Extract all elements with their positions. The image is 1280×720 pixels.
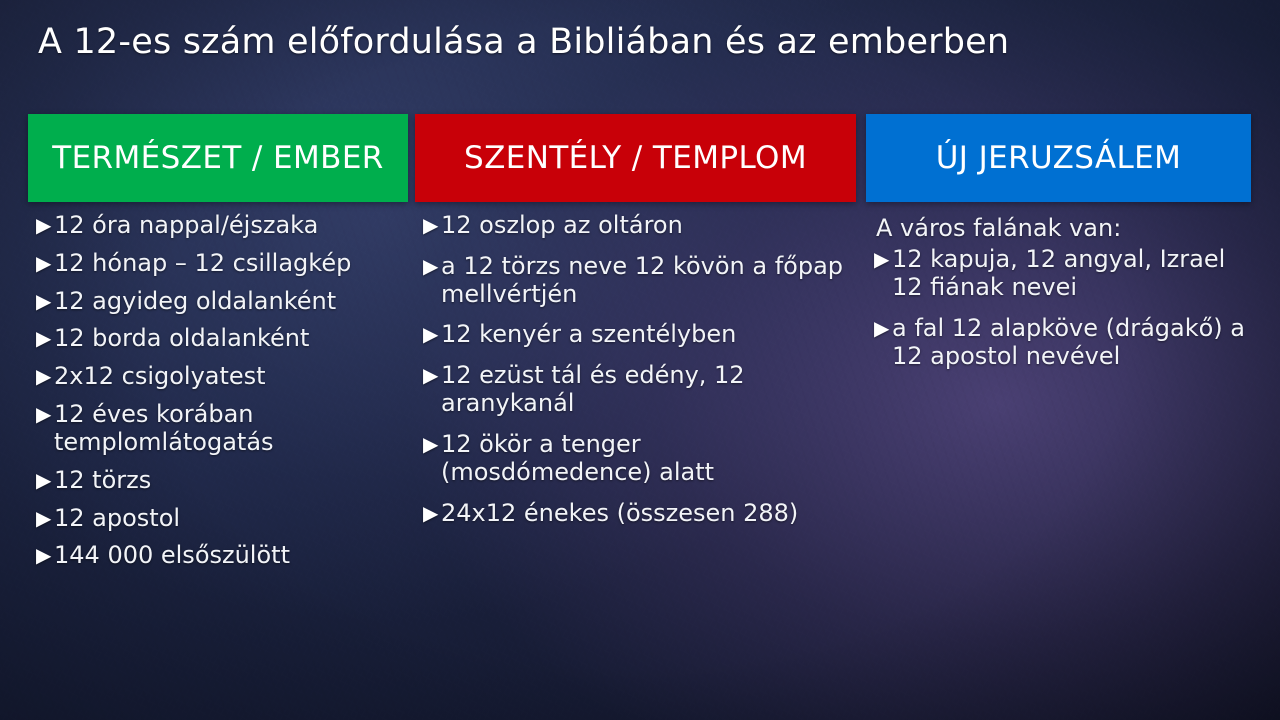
bullet-triangle-icon: ▶ [36, 542, 51, 569]
bullet-triangle-icon: ▶ [423, 431, 438, 458]
list-item: ▶12 apostol [28, 505, 408, 533]
list-item-label: a fal 12 alapköve (drágakő) a 12 apostol… [892, 314, 1245, 370]
list-item-label: 12 óra nappal/éjszaka [54, 211, 318, 239]
bullet-triangle-icon: ▶ [423, 500, 438, 527]
column-header-termeszet-ember: TERMÉSZET / EMBER [28, 114, 408, 202]
column-header-szentely-templom: SZENTÉLY / TEMPLOM [415, 114, 856, 202]
list-item-label: 24x12 énekes (összesen 288) [441, 499, 798, 527]
list-item-label: 12 kenyér a szentélyben [441, 320, 736, 348]
column-termeszet-ember: TERMÉSZET / EMBER ▶12 óra nappal/éjszaka… [28, 114, 408, 580]
column-uj-jeruzsalem: ÚJ JERUZSÁLEM A város falának van: ▶12 k… [866, 114, 1251, 384]
column-body-szentely-templom: ▶12 oszlop az oltáron ▶a 12 törzs neve 1… [415, 202, 856, 527]
list-item: ▶12 hónap – 12 csillagkép [28, 250, 408, 278]
bullet-triangle-icon: ▶ [36, 363, 51, 390]
list-item-label: 12 kapuja, 12 angyal, Izrael 12 fiának n… [892, 245, 1225, 301]
list-item-label: 12 törzs [54, 466, 151, 494]
column-body-uj-jeruzsalem: A város falának van: ▶12 kapuja, 12 angy… [866, 202, 1251, 371]
bullet-triangle-icon: ▶ [36, 212, 51, 239]
list-item-label: 12 agyideg oldalanként [54, 287, 336, 315]
bullet-triangle-icon: ▶ [36, 325, 51, 352]
list-item: ▶12 ezüst tál és edény, 12 aranykanál [415, 362, 856, 418]
list-item: ▶12 éves korában templomlátogatás [28, 401, 408, 457]
presentation-slide: A 12-es szám előfordulása a Bibliában és… [0, 0, 1280, 720]
list-item: ▶a fal 12 alapköve (drágakő) a 12 aposto… [866, 315, 1251, 371]
list-item: ▶12 óra nappal/éjszaka [28, 212, 408, 240]
column-header-uj-jeruzsalem: ÚJ JERUZSÁLEM [866, 114, 1251, 202]
bullet-triangle-icon: ▶ [874, 246, 889, 273]
list-item: ▶12 kenyér a szentélyben [415, 321, 856, 349]
page-title: A 12-es szám előfordulása a Bibliában és… [38, 22, 1218, 62]
list-item-label: a 12 törzs neve 12 kövön a főpap mellvér… [441, 252, 843, 308]
bullet-triangle-icon: ▶ [423, 253, 438, 280]
bullet-triangle-icon: ▶ [36, 288, 51, 315]
bullet-triangle-icon: ▶ [423, 362, 438, 389]
list-item-label: 12 borda oldalanként [54, 324, 309, 352]
list-item: ▶12 borda oldalanként [28, 325, 408, 353]
bullet-list-uj-jeruzsalem: ▶12 kapuja, 12 angyal, Izrael 12 fiának … [866, 246, 1251, 370]
bullet-triangle-icon: ▶ [36, 401, 51, 428]
list-item: ▶12 kapuja, 12 angyal, Izrael 12 fiának … [866, 246, 1251, 302]
list-item: ▶2x12 csigolyatest [28, 363, 408, 391]
bullet-triangle-icon: ▶ [874, 315, 889, 342]
list-item-label: 12 hónap – 12 csillagkép [54, 249, 351, 277]
column-szentely-templom: SZENTÉLY / TEMPLOM ▶12 oszlop az oltáron… [415, 114, 856, 540]
bullet-list-szentely-templom: ▶12 oszlop az oltáron ▶a 12 törzs neve 1… [415, 212, 856, 527]
list-item-label: 12 ezüst tál és edény, 12 aranykanál [441, 361, 745, 417]
column-lead-text: A város falának van: [876, 214, 1251, 242]
list-item: ▶24x12 énekes (összesen 288) [415, 500, 856, 528]
list-item-label: 2x12 csigolyatest [54, 362, 266, 390]
bullet-triangle-icon: ▶ [36, 505, 51, 532]
list-item-label: 12 ökör a tenger (mosdómedence) alatt [441, 430, 714, 486]
list-item: ▶a 12 törzs neve 12 kövön a főpap mellvé… [415, 253, 856, 309]
list-item: ▶12 ökör a tenger (mosdómedence) alatt [415, 431, 856, 487]
bullet-triangle-icon: ▶ [36, 250, 51, 277]
column-body-termeszet-ember: ▶12 óra nappal/éjszaka ▶12 hónap – 12 cs… [28, 202, 408, 570]
list-item-label: 144 000 elsőszülött [54, 541, 290, 569]
list-item: ▶12 törzs [28, 467, 408, 495]
list-item-label: 12 apostol [54, 504, 180, 532]
bullet-triangle-icon: ▶ [423, 212, 438, 239]
list-item: ▶12 agyideg oldalanként [28, 288, 408, 316]
bullet-triangle-icon: ▶ [36, 467, 51, 494]
bullet-triangle-icon: ▶ [423, 321, 438, 348]
list-item-label: 12 oszlop az oltáron [441, 211, 683, 239]
bullet-list-termeszet-ember: ▶12 óra nappal/éjszaka ▶12 hónap – 12 cs… [28, 212, 408, 570]
list-item: ▶144 000 elsőszülött [28, 542, 408, 570]
list-item-label: 12 éves korában templomlátogatás [54, 400, 274, 456]
list-item: ▶12 oszlop az oltáron [415, 212, 856, 240]
columns-container: TERMÉSZET / EMBER ▶12 óra nappal/éjszaka… [0, 114, 1280, 714]
